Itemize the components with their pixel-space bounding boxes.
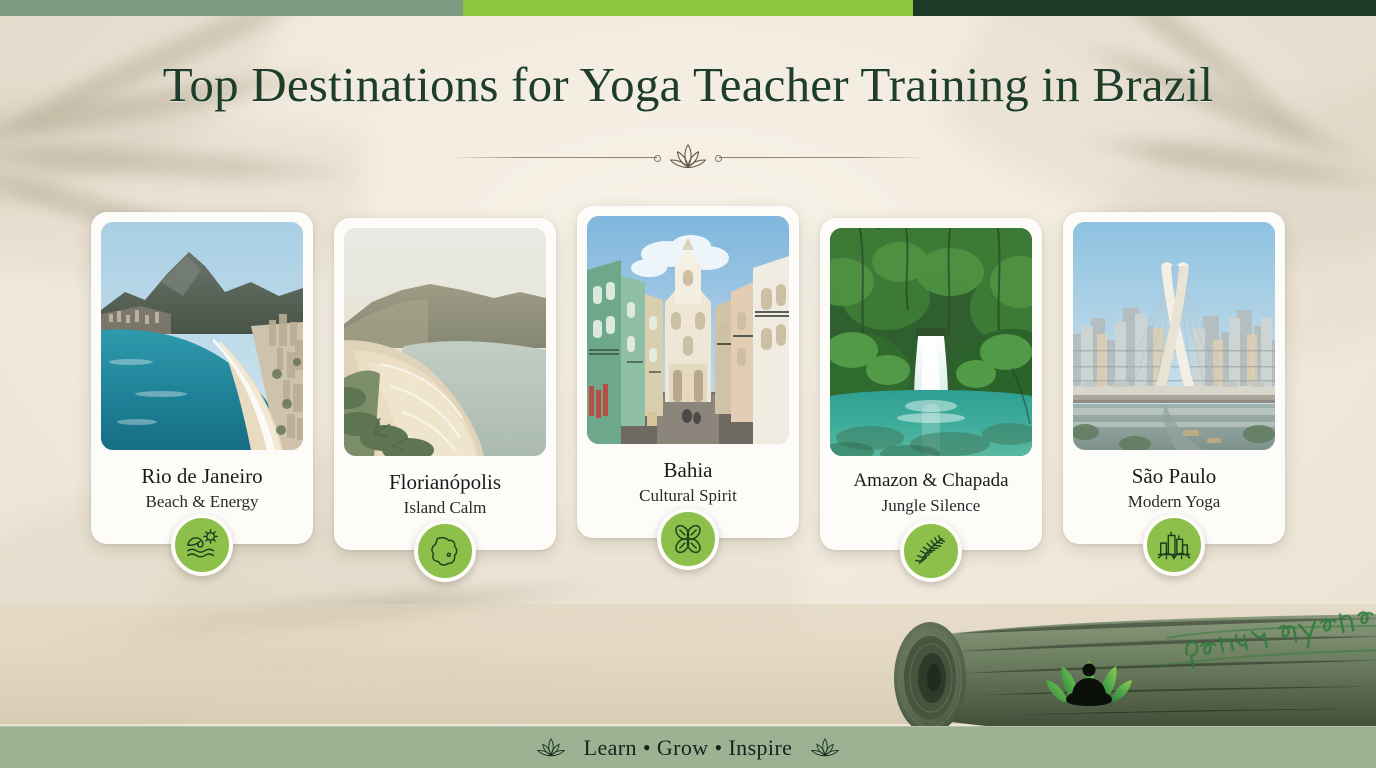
palm-leaf-icon — [912, 532, 950, 570]
card-title: Amazon & Chapada — [853, 470, 1008, 492]
destination-badge[interactable] — [657, 508, 719, 570]
page-title: Top Destinations for Yoga Teacher Traini… — [0, 58, 1376, 113]
amazon-waterfall-photo — [830, 228, 1032, 456]
card-title: Bahia — [639, 458, 737, 482]
destination-card[interactable]: Rio de Janeiro Beach & Energy — [91, 212, 313, 544]
destination-card[interactable]: São Paulo Modern Yoga — [1063, 212, 1285, 544]
card-text: Rio de Janeiro Beach & Energy — [137, 450, 266, 512]
card-title: Rio de Janeiro — [141, 464, 262, 488]
card-title: São Paulo — [1128, 464, 1221, 488]
topbar-lime-segment — [463, 0, 913, 16]
florianopolis-coast-photo — [344, 228, 546, 456]
destination-badge[interactable] — [414, 520, 476, 582]
destination-card[interactable]: Florianópolis Island Calm — [334, 218, 556, 550]
header: Top Destinations for Yoga Teacher Traini… — [0, 58, 1376, 113]
divider-rule-right — [719, 157, 927, 158]
destination-badge[interactable] — [1143, 514, 1205, 576]
card-text: Bahia Cultural Spirit — [635, 444, 741, 506]
destination-card[interactable]: Bahia Cultural Spirit — [577, 206, 799, 538]
card-text: Florianópolis Island Calm — [385, 456, 505, 518]
sand-band — [0, 604, 1376, 724]
bahia-pelourinho-photo — [587, 216, 789, 444]
topbar-dark-segment — [913, 0, 1376, 16]
wave-sun-icon — [183, 526, 221, 564]
card-title: Florianópolis — [389, 470, 501, 494]
destination-badge[interactable] — [900, 520, 962, 582]
lotus-icon — [808, 736, 842, 760]
sao-paulo-bridge-photo — [1073, 222, 1275, 450]
lotus-icon — [667, 140, 709, 174]
lotus-icon — [534, 736, 568, 760]
poster-canvas: Top Destinations for Yoga Teacher Traini… — [0, 0, 1376, 768]
city-skyline-icon — [1155, 526, 1193, 564]
rio-beach-photo — [101, 222, 303, 450]
card-text: São Paulo Modern Yoga — [1124, 450, 1225, 512]
card-subtitle: Beach & Energy — [141, 492, 262, 512]
footer-tagline: Learn • Grow • Inspire — [584, 735, 793, 761]
divider-rule-left — [449, 157, 657, 158]
destination-card[interactable]: Amazon & Chapada Jungle Silence — [820, 218, 1042, 550]
destination-card-row: Rio de Janeiro Beach & Energy — [0, 212, 1376, 550]
footer-bar: Learn • Grow • Inspire — [0, 726, 1376, 768]
card-text: Amazon & Chapada Jungle Silence — [849, 456, 1012, 516]
brazil-map-icon — [426, 532, 464, 570]
card-subtitle: Modern Yoga — [1128, 492, 1221, 512]
topbar-sage-segment — [0, 0, 463, 16]
destination-badge[interactable] — [171, 514, 233, 576]
divider — [0, 140, 1376, 174]
card-subtitle: Island Calm — [389, 498, 501, 518]
card-subtitle: Cultural Spirit — [639, 486, 737, 506]
card-subtitle: Jungle Silence — [853, 496, 1008, 516]
top-color-bar — [0, 0, 1376, 16]
four-leaf-icon — [669, 520, 707, 558]
